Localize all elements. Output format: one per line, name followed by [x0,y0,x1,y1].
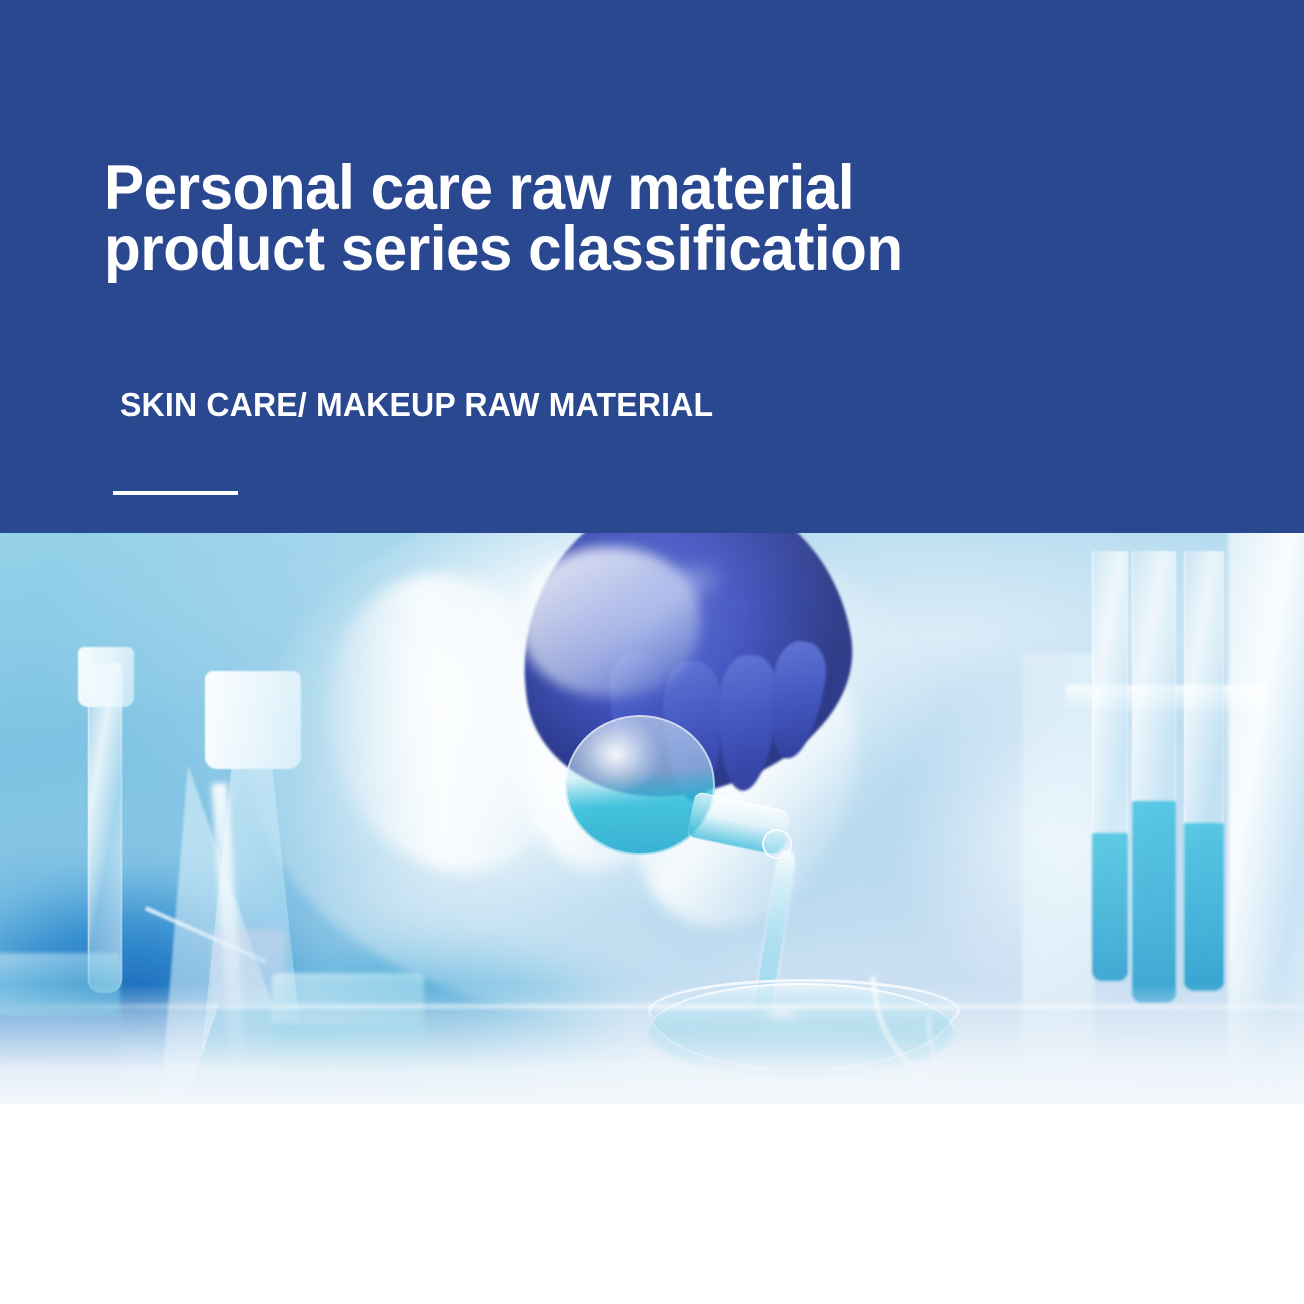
header-band: Personal care raw material product serie… [0,0,1304,533]
title-divider-rule [113,491,238,495]
page-subtitle: SKIN CARE/ MAKEUP RAW MATERIAL [120,386,713,424]
page-title-line-2: product series classification [104,219,1059,280]
hero-image [0,533,1304,1104]
erlenmeyer-flask-cap [205,671,301,769]
slide-page: Personal care raw material product serie… [0,0,1304,1304]
test-tube-2-liquid [1132,801,1176,1003]
page-title: Personal care raw material product serie… [104,158,1104,280]
footer-band: MINGYA NEW MATERIAL TECHNOLOGY INC. [0,1104,1304,1304]
lab-bench [0,984,1304,1104]
test-tube-3-liquid [1184,823,1224,991]
glass-rod-left-cap [78,647,134,707]
lab-bench-edge [0,1005,1304,1008]
test-tube-1-liquid [1092,833,1128,981]
glass-rod-left [88,663,122,993]
page-title-line-1: Personal care raw material [104,158,1059,219]
